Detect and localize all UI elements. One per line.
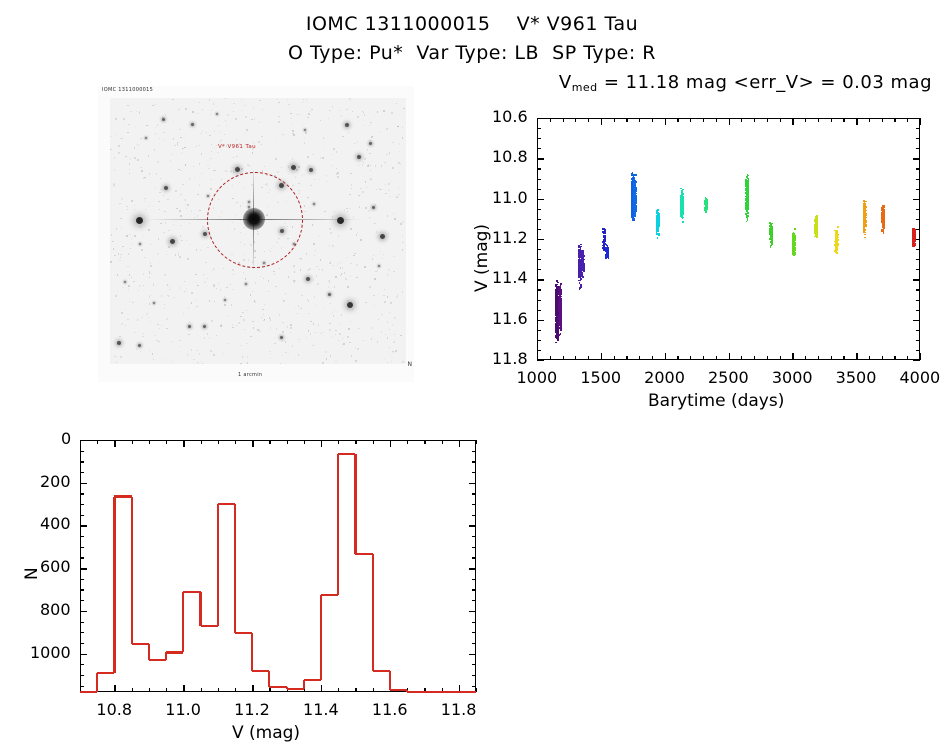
histogram-bar-top	[373, 670, 390, 672]
histogram-bar-top	[287, 688, 304, 690]
histogram-bar-side	[234, 504, 236, 633]
histogram-bar-side	[406, 690, 408, 692]
histogram-bar-side	[372, 554, 374, 670]
histogram-bar-top	[424, 691, 441, 693]
histogram-bar-side	[113, 497, 115, 673]
histogram-bar-side	[148, 644, 150, 660]
histogram-bar-top	[218, 503, 235, 505]
histogram-bar-side	[131, 497, 133, 644]
histogram-bar-side	[389, 671, 391, 690]
histogram-bar-top	[183, 591, 200, 593]
histogram-bars	[0, 0, 944, 747]
histogram-bar-top	[407, 691, 424, 693]
histogram-baseline	[80, 691, 97, 693]
histogram-bar-top	[97, 672, 114, 674]
histogram-bar-side	[354, 454, 356, 554]
histogram-bar-top	[355, 553, 372, 555]
histogram-bar-side	[268, 671, 270, 687]
histogram-bar-top	[114, 495, 131, 497]
histogram-bar-top	[166, 651, 183, 653]
histogram-bar-top	[201, 625, 218, 627]
histogram-bar-side	[251, 633, 253, 670]
histogram-bar-top	[132, 643, 149, 645]
histogram-bar-side	[199, 592, 201, 626]
histogram-bar-side	[286, 687, 288, 689]
histogram-bar-side	[96, 673, 98, 692]
histogram-bar-top	[252, 670, 269, 672]
histogram-bar-top	[149, 659, 166, 661]
histogram-bar-top	[269, 686, 286, 688]
histogram-bar-top	[338, 453, 355, 455]
histogram-bar-top	[304, 679, 321, 681]
histogram-bar-side	[320, 595, 322, 680]
histogram-bar-side	[182, 592, 184, 653]
histogram-bar-side	[337, 454, 339, 595]
histogram-bar-top	[321, 594, 338, 596]
histogram-bar-top	[390, 689, 407, 691]
histogram-bar-side	[217, 504, 219, 626]
histogram-bar-top	[442, 691, 459, 693]
histogram-bar-side	[165, 652, 167, 659]
histogram-baseline	[459, 691, 476, 693]
histogram-bar-side	[303, 680, 305, 689]
histogram-bar-top	[235, 632, 252, 634]
